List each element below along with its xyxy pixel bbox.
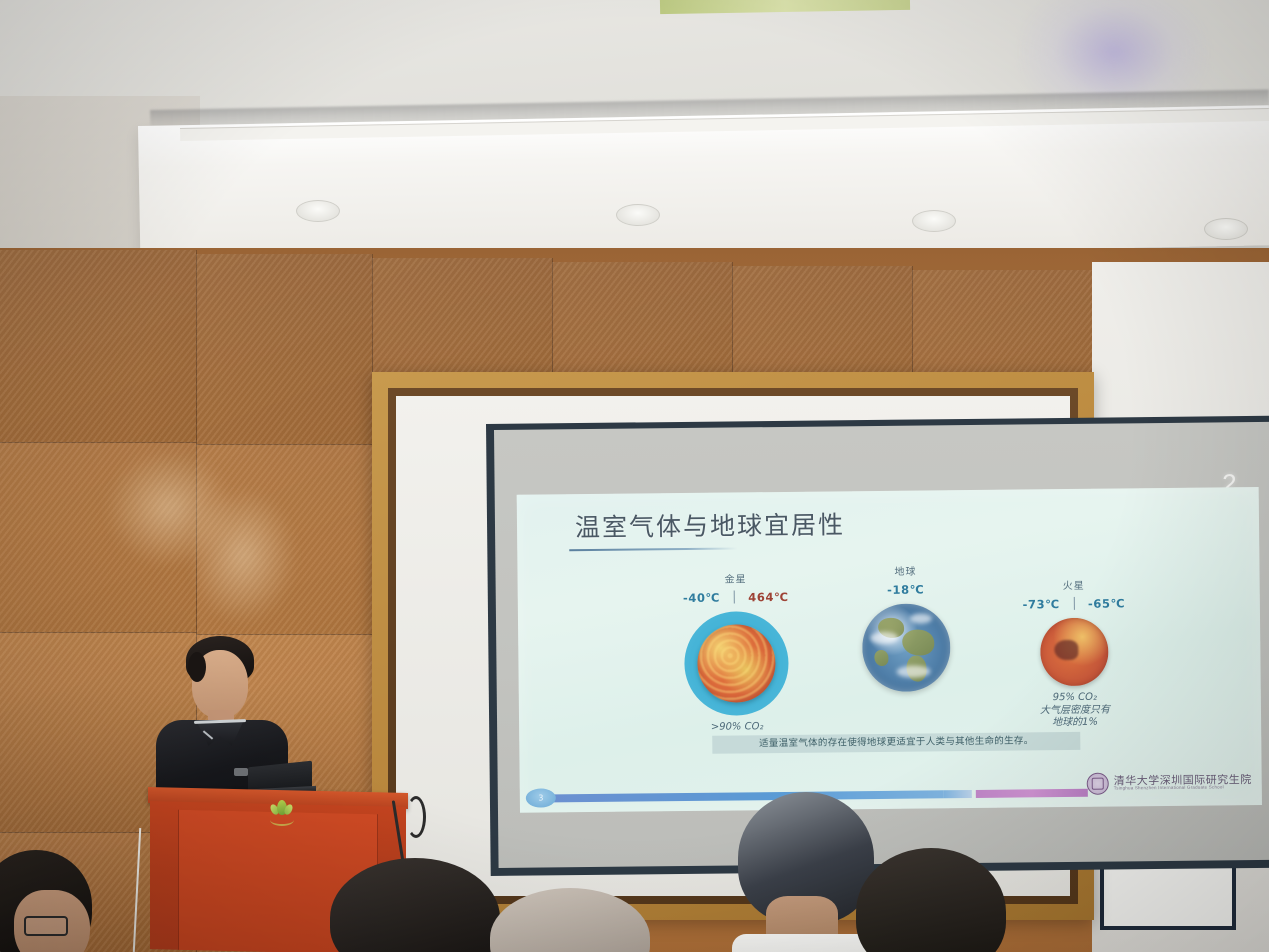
wall-sheen (188, 486, 298, 626)
wall-panel (196, 254, 373, 445)
audience-member-left-with-glasses (0, 850, 120, 952)
earth-cloud (870, 632, 898, 644)
venus-cloud-swirl (697, 624, 776, 703)
venus-caption: >90% CO₂ (667, 721, 807, 735)
temp-separator (1073, 597, 1074, 610)
audience-head (330, 858, 500, 952)
temp-separator (734, 590, 735, 603)
downlight-4 (1204, 218, 1248, 240)
downlight-3 (912, 210, 956, 232)
planet-column-earth: 地球 -18℃ (835, 562, 976, 692)
downlight-1 (296, 200, 340, 222)
mars-temp-low: -73℃ (1023, 597, 1060, 611)
presentation-slide: 温室气体与地球宜居性 金星 -40℃ 464℃ >90% CO₂ (517, 487, 1262, 813)
earth-landmass (902, 629, 934, 655)
audience-head (856, 848, 1006, 952)
institution-logo: 清华大学深圳国际研究生院 Tsinghua Shenzhen Internati… (1087, 771, 1252, 795)
earth-landmass (874, 650, 888, 666)
eyeglasses-icon (24, 916, 68, 936)
earth-cloud (910, 613, 932, 623)
planet-temps-earth: -18℃ (836, 582, 976, 597)
slide-summary-text: 适量温室气体的存在使得地球更适宜于人类与其他生命的生存。 (712, 732, 1080, 754)
audience-member-center (490, 888, 660, 952)
presenter-shirt-logo (234, 768, 248, 776)
microphone-cable-loop (406, 796, 426, 838)
logo-text-block: 清华大学深圳国际研究生院 Tsinghua Shenzhen Internati… (1114, 774, 1252, 792)
wall-panel (0, 250, 197, 443)
slide-number-badge: 3 (526, 788, 556, 807)
venus-planet-image (697, 624, 776, 703)
mars-planet-image (1040, 618, 1109, 687)
earth-planet-image (862, 603, 951, 692)
wall-picture-frame (1100, 862, 1236, 930)
tsinghua-seal-icon (1087, 773, 1109, 795)
mars-caption-line-3: 地球的1% (1005, 716, 1145, 730)
earth-temp-low: -18℃ (887, 583, 924, 597)
planet-temps-venus: -40℃ 464℃ (666, 590, 806, 605)
slide-title: 温室气体与地球宜居性 (575, 505, 845, 544)
planet-column-venus: 金星 -40℃ 464℃ >90% CO₂ (665, 570, 807, 735)
audience-head (490, 888, 650, 952)
presentation-photo-scene: 2 温室气体与地球宜居性 金星 -40℃ 464℃ >90% CO₂ (0, 0, 1269, 952)
venus-atmosphere-halo (684, 611, 789, 716)
footer-bar-blue-fade (944, 790, 972, 798)
planet-column-mars: 火星 -73℃ -65℃ 95% CO₂ 大气层密度只有 地球的1% (1004, 576, 1146, 730)
ceiling-light-glow (1019, 0, 1209, 100)
title-underline (569, 547, 737, 551)
audience-member-far-right-long-hair (856, 848, 1046, 952)
planet-name-mars: 火星 (1004, 576, 1144, 592)
planet-temps-mars: -73℃ -65℃ (1004, 596, 1144, 611)
footer-bar-pink (976, 789, 1088, 798)
presenter-hair-side (188, 652, 206, 682)
logo-name-en: Tsinghua Shenzhen International Graduate… (1114, 785, 1252, 791)
podium-leaf-emblem-icon (268, 800, 296, 824)
slide-summary-banner: 适量温室气体的存在使得地球更适宜于人类与其他生命的生存。 (712, 732, 1080, 754)
planet-name-venus: 金星 (665, 570, 805, 586)
venus-temp-low: -40℃ (683, 591, 720, 605)
emblem-arc (270, 814, 294, 826)
mars-temp-high: -65℃ (1088, 596, 1125, 610)
mars-caption: 95% CO₂ 大气层密度只有 地球的1% (1005, 691, 1145, 730)
planet-name-earth: 地球 (835, 562, 975, 578)
downlight-2 (616, 204, 660, 226)
venus-temp-high: 464℃ (748, 590, 788, 604)
mars-surface-feature (1054, 640, 1078, 660)
